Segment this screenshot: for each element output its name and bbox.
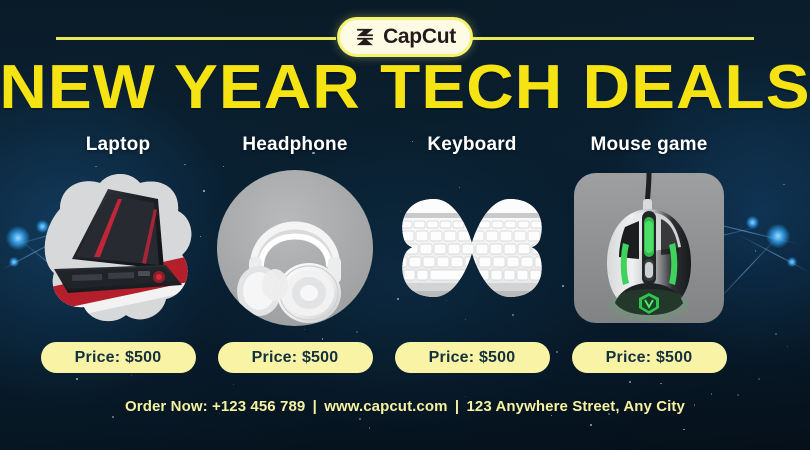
capcut-logo: CapCut bbox=[337, 17, 473, 57]
footer-separator-1: | bbox=[313, 398, 317, 415]
product-title: Mouse game bbox=[590, 134, 707, 156]
price-badge[interactable]: Price: $500 bbox=[572, 342, 727, 373]
header-rule-right bbox=[472, 37, 754, 40]
header-rule-left bbox=[56, 37, 336, 40]
product-card-mouse[interactable]: Mouse game bbox=[554, 134, 744, 373]
price-badge[interactable]: Price: $500 bbox=[41, 342, 196, 373]
product-card-keyboard[interactable]: Keyboard bbox=[377, 134, 567, 373]
product-title: Keyboard bbox=[427, 134, 516, 156]
capcut-bowtie-icon bbox=[354, 26, 376, 48]
price-badge[interactable]: Price: $500 bbox=[218, 342, 373, 373]
price-badge[interactable]: Price: $500 bbox=[395, 342, 550, 373]
product-image-mouse bbox=[565, 165, 733, 331]
product-image-laptop bbox=[34, 165, 202, 331]
capcut-logo-text: CapCut bbox=[383, 25, 456, 49]
footer-address: 123 Anywhere Street, Any City bbox=[466, 398, 685, 415]
product-image-keyboard bbox=[388, 165, 556, 331]
footer-order-phone: Order Now: +123 456 789 bbox=[125, 398, 305, 415]
product-image-headphone bbox=[211, 165, 379, 331]
footer-separator-2: | bbox=[455, 398, 459, 415]
product-card-headphone[interactable]: Headphone bbox=[200, 134, 390, 373]
product-card-laptop[interactable]: Laptop bbox=[23, 134, 213, 373]
footer-website[interactable]: www.capcut.com bbox=[324, 398, 447, 415]
product-grid: Laptop bbox=[0, 134, 810, 389]
product-title: Laptop bbox=[86, 134, 151, 156]
promo-banner: CapCut NEW YEAR TECH DEALS Laptop bbox=[0, 0, 810, 450]
page-title: NEW YEAR TECH DEALS bbox=[0, 57, 810, 119]
footer-contact-bar: Order Now: +123 456 789 | www.capcut.com… bbox=[0, 398, 810, 415]
product-title: Headphone bbox=[242, 134, 347, 156]
